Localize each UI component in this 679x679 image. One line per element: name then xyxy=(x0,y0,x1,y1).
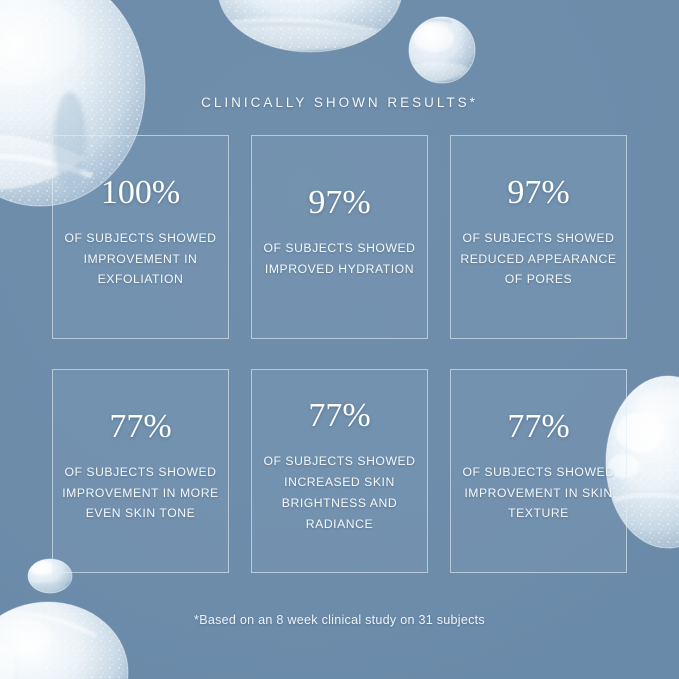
stat-value: 100% xyxy=(101,176,180,210)
stat-value: 97% xyxy=(507,176,569,210)
stat-description: OF SUBJECTS SHOWED IMPROVEMENT IN MORE E… xyxy=(59,462,222,525)
result-card-skin-texture: 77% OF SUBJECTS SHOWED IMPROVEMENT IN SK… xyxy=(450,369,627,573)
results-panel: CLINICALLY SHOWN RESULTS* 100% OF SUBJEC… xyxy=(0,0,679,679)
stat-value: 77% xyxy=(308,399,370,433)
study-footnote: *Based on an 8 week clinical study on 31… xyxy=(0,613,679,627)
stat-description: OF SUBJECTS SHOWED IMPROVEMENT IN EXFOLI… xyxy=(59,228,222,291)
results-grid: 100% OF SUBJECTS SHOWED IMPROVEMENT IN E… xyxy=(52,135,627,573)
result-card-hydration: 97% OF SUBJECTS SHOWED IMPROVED HYDRATIO… xyxy=(251,135,428,339)
result-card-brightness: 77% OF SUBJECTS SHOWED INCREASED SKIN BR… xyxy=(251,369,428,573)
result-card-pores: 97% OF SUBJECTS SHOWED REDUCED APPEARANC… xyxy=(450,135,627,339)
stat-description: OF SUBJECTS SHOWED INCREASED SKIN BRIGHT… xyxy=(258,451,421,535)
stat-description: OF SUBJECTS SHOWED IMPROVED HYDRATION xyxy=(258,238,421,280)
result-card-skin-tone: 77% OF SUBJECTS SHOWED IMPROVEMENT IN MO… xyxy=(52,369,229,573)
stat-description: OF SUBJECTS SHOWED IMPROVEMENT IN SKIN T… xyxy=(457,462,620,525)
stat-value: 77% xyxy=(109,410,171,444)
stat-value: 77% xyxy=(507,410,569,444)
stat-description: OF SUBJECTS SHOWED REDUCED APPEARANCE OF… xyxy=(457,228,620,291)
result-card-exfoliation: 100% OF SUBJECTS SHOWED IMPROVEMENT IN E… xyxy=(52,135,229,339)
stat-value: 97% xyxy=(308,186,370,220)
page-title: CLINICALLY SHOWN RESULTS* xyxy=(0,95,679,110)
